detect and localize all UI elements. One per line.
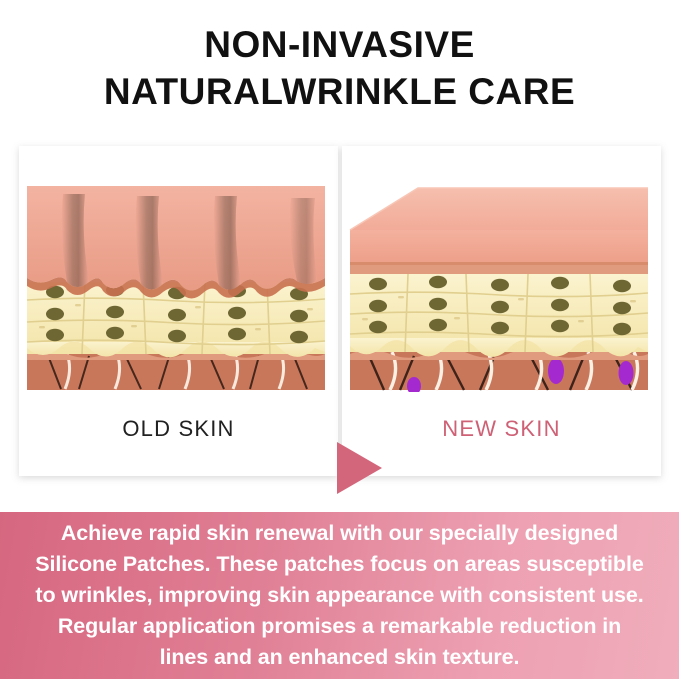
new-skin-card: NEW SKIN (342, 146, 661, 476)
title-line-2: NATURALWRINKLE CARE (0, 69, 679, 116)
title-line-1: NON-INVASIVE (0, 22, 679, 69)
old-skin-card: OLD SKIN (19, 146, 338, 476)
wrinkled-skin-cross-section-icon (19, 182, 338, 392)
page-title: NON-INVASIVE NATURALWRINKLE CARE (0, 22, 679, 116)
old-skin-label: OLD SKIN (19, 416, 338, 442)
old-skin-diagram (19, 182, 338, 392)
new-skin-diagram (342, 182, 661, 392)
description-banner: Achieve rapid skin renewal with our spec… (0, 512, 679, 679)
new-skin-label: NEW SKIN (342, 416, 661, 442)
smooth-skin-cross-section-icon (342, 182, 661, 392)
transformation-arrow-icon (337, 442, 382, 494)
description-text: Achieve rapid skin renewal with our spec… (35, 518, 645, 673)
comparison-cards: OLD SKIN (19, 146, 661, 476)
